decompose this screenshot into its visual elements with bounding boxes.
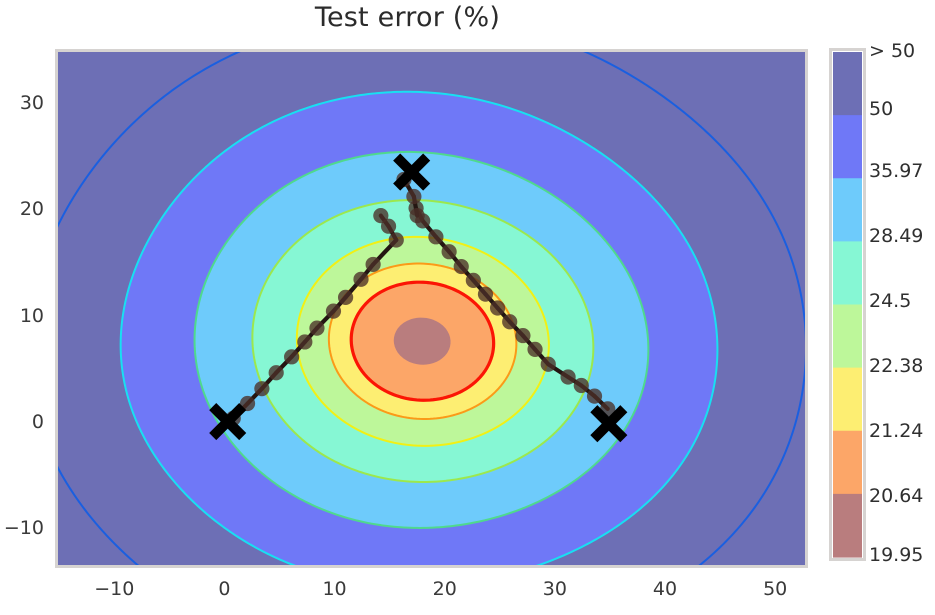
trajectory-point xyxy=(254,381,269,396)
trajectory-point xyxy=(527,342,542,357)
y-tick-label: 0 xyxy=(0,411,44,433)
trajectory-point xyxy=(466,273,481,288)
colorbar-swatch xyxy=(833,52,862,116)
trajectory-point xyxy=(587,389,602,404)
colorbar-swatch xyxy=(833,178,862,242)
trajectory-point xyxy=(366,257,381,272)
trajectory-point xyxy=(574,378,589,393)
trajectory-point xyxy=(478,287,493,302)
trajectory-point xyxy=(326,304,341,319)
x-tick-label: −10 xyxy=(84,578,144,600)
x-tick-label: 50 xyxy=(745,578,805,600)
contour-plot-figure: Test error (%) −100102030 −1001020304050… xyxy=(0,0,935,615)
trajectory-point xyxy=(502,314,517,329)
x-tick-label: 0 xyxy=(194,578,254,600)
colorbar-tick-label: 28.49 xyxy=(869,225,923,247)
colorbar-swatch xyxy=(833,241,862,305)
trajectory-point xyxy=(338,290,353,305)
y-tick-label: 10 xyxy=(0,305,44,327)
colorbar xyxy=(831,50,865,560)
trajectory-point xyxy=(490,300,505,315)
colorbar-tick-label: 19.95 xyxy=(869,544,923,566)
x-tick-label: 10 xyxy=(305,578,365,600)
colorbar-swatch xyxy=(833,115,862,179)
colorbar-swatch xyxy=(833,494,862,558)
contour-bands xyxy=(57,51,806,566)
colorbar-swatch xyxy=(833,431,862,495)
trajectory-point xyxy=(381,219,396,234)
y-tick-label: 20 xyxy=(0,198,44,220)
colorbar-tick-label: > 50 xyxy=(869,40,915,62)
trajectory-point xyxy=(410,208,425,223)
colorbar-swatch xyxy=(833,368,862,432)
plot-canvas xyxy=(0,0,935,615)
y-tick-label: −10 xyxy=(0,517,44,539)
trajectory-point xyxy=(406,189,421,204)
y-tick-label: 30 xyxy=(0,92,44,114)
colorbar-tick-label: 22.38 xyxy=(869,355,923,377)
colorbar-tick-label: 21.24 xyxy=(869,420,923,442)
trajectory-point xyxy=(541,357,556,372)
trajectory-point xyxy=(309,321,324,336)
page-title: Test error (%) xyxy=(0,2,815,33)
trajectory-point xyxy=(560,369,575,384)
x-tick-label: 30 xyxy=(525,578,585,600)
colorbar-tick-label: 35.97 xyxy=(869,160,923,182)
x-tick-label: 20 xyxy=(415,578,475,600)
trajectory-point xyxy=(389,232,404,247)
trajectory-point xyxy=(284,349,299,364)
colorbar-swatch xyxy=(833,305,862,369)
x-tick-label: 40 xyxy=(635,578,695,600)
trajectory-point xyxy=(428,229,443,244)
colorbar-tick-label: 24.5 xyxy=(869,290,911,312)
trajectory-point xyxy=(515,328,530,343)
trajectory-point xyxy=(454,259,469,274)
trajectory-point xyxy=(353,272,368,287)
trajectory-point xyxy=(297,334,312,349)
colorbar-tick-label: 50 xyxy=(869,98,893,120)
colorbar-tick-label: 20.64 xyxy=(869,485,923,507)
trajectory-point xyxy=(269,365,284,380)
trajectory-point xyxy=(442,244,457,259)
